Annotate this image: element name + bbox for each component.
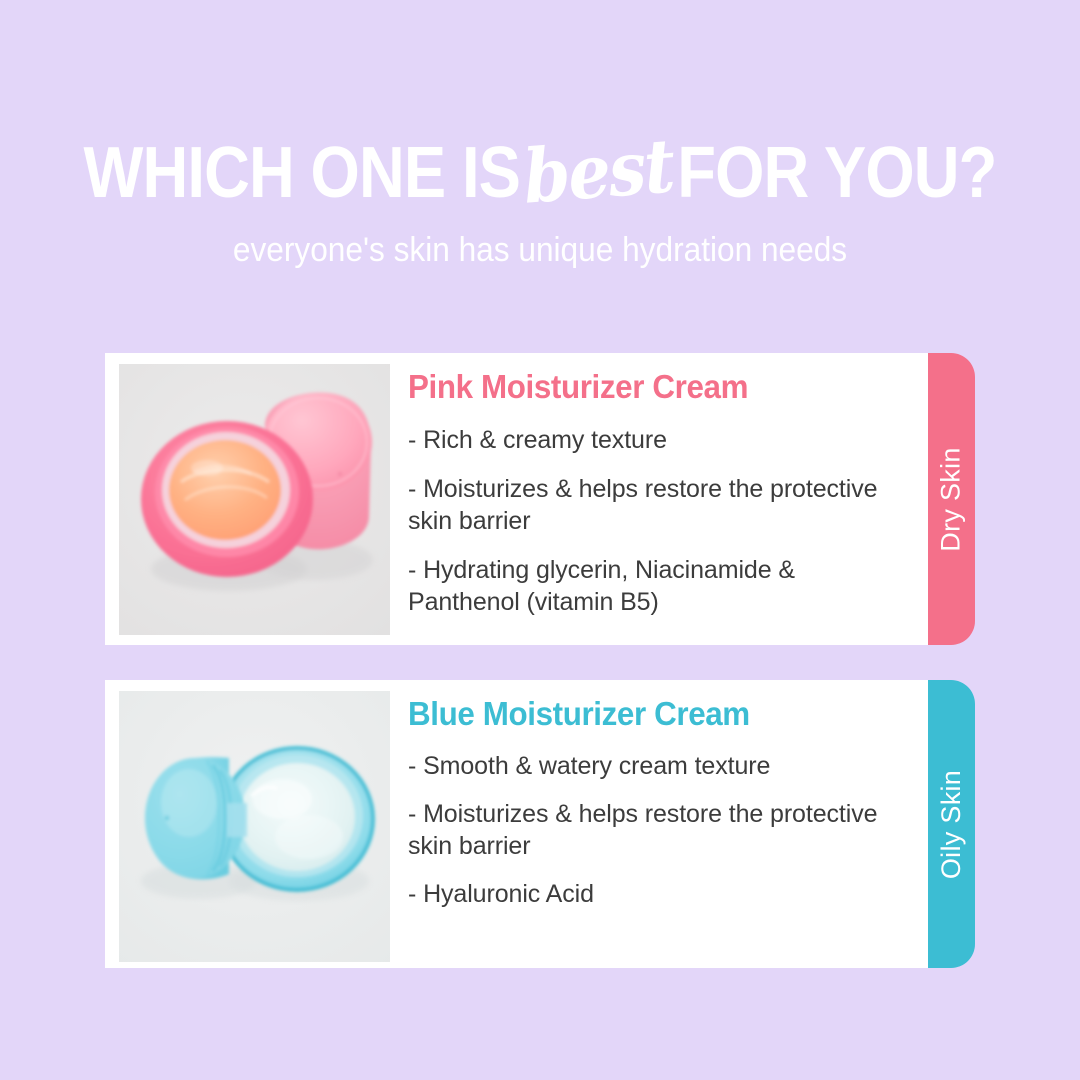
feature-item: - Hyaluronic Acid — [408, 862, 906, 910]
skin-type-tab-oily[interactable]: Oily Skin — [928, 680, 975, 968]
product-image-blue — [119, 691, 390, 962]
feature-item: - Rich & creamy texture — [408, 407, 906, 456]
skin-type-tab-dry[interactable]: Dry Skin — [928, 353, 975, 645]
feature-item: - Moisturizes & helps restore the protec… — [408, 782, 906, 862]
feature-item: - Hydrating glycerin, Niacinamide & Pant… — [408, 537, 906, 618]
product-image-pink — [119, 364, 390, 635]
feature-item: - Smooth & watery cream texture — [408, 734, 906, 782]
skin-type-tab-label: Dry Skin — [936, 447, 967, 551]
product-title-pink: Pink Moisturizer Cream — [408, 367, 881, 407]
card-text-pink: Pink Moisturizer Cream - Rich & creamy t… — [390, 353, 928, 618]
skin-type-tab-label: Oily Skin — [936, 769, 967, 878]
header-block: WHICH ONE ISbestFOR YOU? everyone's skin… — [0, 0, 1080, 270]
page-subtitle: everyone's skin has unique hydration nee… — [38, 212, 1042, 270]
product-card-pink[interactable]: Pink Moisturizer Cream - Rich & creamy t… — [105, 353, 975, 645]
headline-part-one: WHICH ONE IS — [84, 133, 520, 213]
card-text-blue: Blue Moisturizer Cream - Smooth & watery… — [390, 680, 928, 910]
headline-part-two: FOR YOU? — [677, 133, 996, 213]
card-content-blue: Blue Moisturizer Cream - Smooth & watery… — [105, 680, 928, 968]
feature-item: - Moisturizes & helps restore the protec… — [408, 456, 906, 537]
page-title: WHICH ONE ISbestFOR YOU? — [65, 0, 1015, 212]
headline-script-word: best — [516, 127, 681, 217]
card-content-pink: Pink Moisturizer Cream - Rich & creamy t… — [105, 353, 928, 645]
product-title-blue: Blue Moisturizer Cream — [408, 694, 881, 734]
product-card-blue[interactable]: Blue Moisturizer Cream - Smooth & watery… — [105, 680, 975, 968]
